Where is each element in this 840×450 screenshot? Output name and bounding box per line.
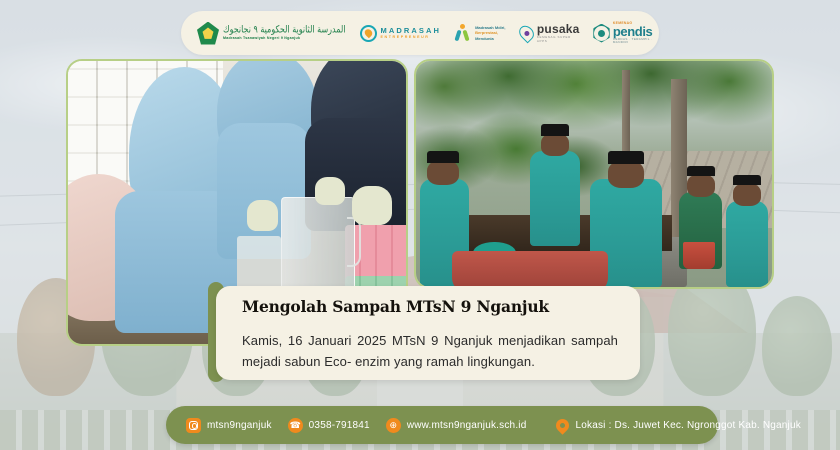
student-head [541, 133, 569, 156]
student-head [687, 174, 715, 197]
peci-cap [608, 151, 644, 163]
footer-website[interactable]: ⊕ www.mtsn9nganjuk.sch.id [386, 418, 527, 433]
entrepreneur-line2: ENTREPRENEUR [381, 35, 442, 39]
pendis-logo-text: KEMENAG pendis CERDAS · TERAMPIL · MANDI… [613, 22, 657, 44]
kemenag-arabic-text: المدرسة الثانوية الحكومية ٩ نجانجوك [223, 25, 346, 35]
madrasah-entrepreneur-logo: MADRASAH ENTREPRENEUR [360, 25, 442, 42]
red-bucket [683, 242, 715, 269]
mandiri-logo-text: Madrasah Mdiri, Berprestasi, Mendunia [475, 25, 505, 41]
footer-location: Lokasi : Ds. Juwet Kec. Ngronggot Kab. N… [556, 416, 800, 434]
peci-cap [733, 175, 761, 185]
student-sports-uniform [530, 151, 580, 246]
wheelbarrow [452, 251, 609, 289]
footer-contact-bar: mtsn9nganjuk ☎ 0358-791841 ⊕ www.mtsn9ng… [166, 406, 718, 444]
kemenag-madrasah-logo: المدرسة الثانوية الحكومية ٩ نجانجوك Madr… [197, 22, 346, 45]
globe-icon: ⊕ [386, 418, 401, 433]
pendis-logo: KEMENAG pendis CERDAS · TERAMPIL · MANDI… [594, 22, 657, 44]
phone-number: 0358-791841 [309, 420, 370, 431]
pusaka-drop-icon [516, 23, 537, 44]
mandiri-person-icon [455, 24, 471, 42]
peci-cap [687, 166, 715, 176]
phone-icon: ☎ [288, 418, 303, 433]
kemenag-logo-text: المدرسة الثانوية الحكومية ٩ نجانجوك Madr… [223, 26, 346, 41]
header-logo-bar: المدرسة الثانوية الحكومية ٩ نجانجوك Madr… [181, 11, 659, 55]
pusaka-logo-text: pusaka KEMENAG SUPER APPS [537, 23, 580, 43]
pusaka-tagline: KEMENAG SUPER APPS [537, 36, 580, 43]
caption-card: Mengolah Sampah MTsN 9 Nganjuk Kamis, 16… [216, 286, 640, 380]
footer-phone[interactable]: ☎ 0358-791841 [288, 418, 370, 433]
entrepreneur-logo-text: MADRASAH ENTREPRENEUR [381, 27, 442, 40]
entrepreneur-drop-icon [360, 25, 377, 42]
instagram-handle: mtsn9nganjuk [207, 420, 272, 431]
pusaka-logo: pusaka KEMENAG SUPER APPS [520, 23, 581, 43]
madrasah-mandiri-logo: Madrasah Mdiri, Berprestasi, Mendunia [455, 24, 505, 42]
student-sports-uniform [726, 201, 769, 287]
entrepreneur-line1: MADRASAH [381, 27, 442, 36]
student-head [608, 160, 644, 187]
kemenag-emblem-icon [197, 22, 219, 45]
pendis-flower-icon [594, 24, 609, 43]
mandiri-line3: Mendunia [475, 36, 505, 41]
website-url: www.mtsn9nganjuk.sch.id [407, 420, 527, 431]
caption-title: Mengolah Sampah MTsN 9 Nganjuk [242, 297, 618, 316]
pendis-tagline: CERDAS · TERAMPIL · MANDIRI [613, 38, 657, 44]
latex-glove [247, 200, 277, 231]
student-head [427, 160, 459, 185]
instagram-icon [186, 418, 201, 433]
location-text: Lokasi : Ds. Juwet Kec. Ngronggot Kab. N… [575, 420, 800, 431]
location-pin-icon [556, 416, 569, 434]
latex-glove [352, 186, 393, 226]
latex-glove [315, 177, 345, 205]
kemenag-subtitle: Madrasah Tsanawiyah Negeri 9 Nganjuk [223, 37, 346, 41]
caption-body: Kamis, 16 Januari 2025 MTsN 9 Nganjuk me… [242, 330, 618, 373]
photo-students-garden-cleanup [414, 59, 774, 289]
footer-instagram[interactable]: mtsn9nganjuk [186, 418, 272, 433]
peci-cap [541, 124, 569, 135]
peci-cap [427, 151, 459, 162]
student-head [733, 183, 761, 206]
